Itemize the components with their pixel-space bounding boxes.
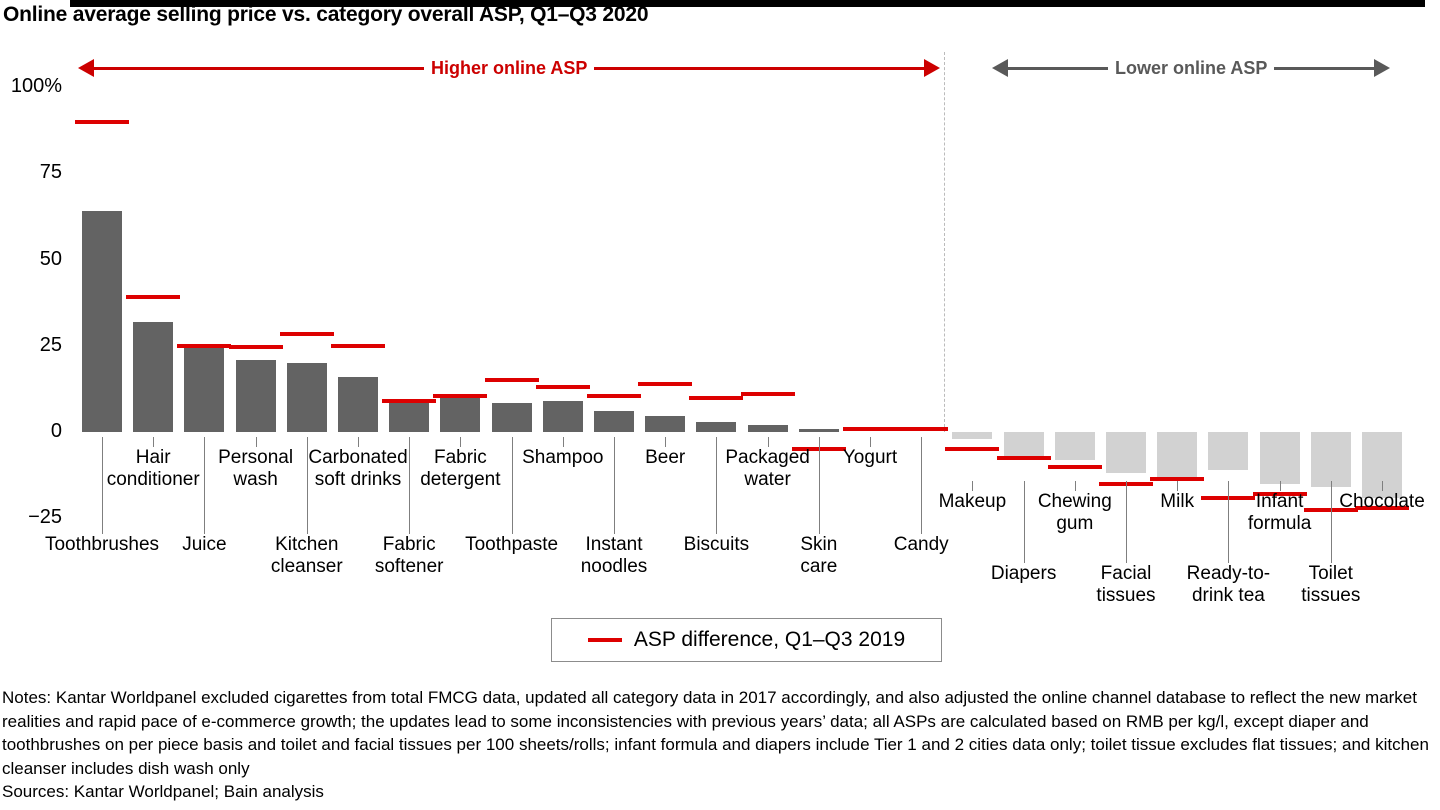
- bar: [1004, 432, 1044, 456]
- y-axis-tick-75: 75: [0, 162, 62, 182]
- bar: [440, 398, 480, 433]
- category-leader-line: [153, 437, 154, 447]
- prior-year-marker: [536, 385, 590, 389]
- category-label: Candy: [836, 534, 1006, 556]
- bar: [1311, 432, 1351, 487]
- prior-year-marker: [689, 396, 743, 400]
- prior-year-marker: [1150, 477, 1204, 481]
- category-label: Yogurt: [785, 447, 955, 469]
- category-leader-line: [358, 437, 359, 447]
- bar: [389, 401, 429, 432]
- prior-year-marker: [741, 392, 795, 396]
- bar: [1055, 432, 1095, 460]
- category-leader-line: [972, 481, 973, 491]
- y-axis-tick-25: 25: [0, 335, 62, 355]
- prior-year-marker: [75, 120, 129, 124]
- category-leader-line: [256, 437, 257, 447]
- bar: [184, 347, 224, 432]
- category-leader-line: [1382, 481, 1383, 491]
- zero-crossing-divider: [944, 52, 945, 432]
- bar: [696, 422, 736, 432]
- prior-year-marker: [433, 394, 487, 398]
- bar: [543, 401, 583, 432]
- category-leader-line: [665, 437, 666, 447]
- y-axis-tick-100: 100%: [0, 76, 62, 96]
- y-axis-tick-neg25: −25: [0, 507, 62, 527]
- prior-year-marker: [638, 382, 692, 386]
- prior-year-marker: [229, 345, 283, 349]
- category-label: Toilet tissues: [1246, 563, 1416, 607]
- legend-line-icon: [588, 638, 622, 642]
- category-leader-line: [1177, 481, 1178, 491]
- bar: [1260, 432, 1300, 484]
- chart-legend: ASP difference, Q1–Q3 2019: [551, 618, 942, 662]
- category-leader-line: [1280, 481, 1281, 491]
- category-leader-line: [460, 437, 461, 447]
- prior-year-marker: [126, 295, 180, 299]
- bar: [338, 377, 378, 432]
- y-axis-tick-0: 0: [0, 421, 62, 441]
- bar: [1157, 432, 1197, 477]
- bar-chart-plot: 100%7550250−25 ToothbrushesHair conditio…: [0, 0, 1440, 680]
- prior-year-marker: [382, 399, 436, 403]
- bar: [594, 411, 634, 432]
- prior-year-marker: [331, 344, 385, 348]
- prior-year-marker: [485, 378, 539, 382]
- bar: [748, 425, 788, 432]
- category-label: Chocolate: [1297, 491, 1440, 513]
- bar: [133, 322, 173, 432]
- bar: [492, 403, 532, 432]
- prior-year-marker: [177, 344, 231, 348]
- category-leader-line: [870, 437, 871, 447]
- bar: [1106, 432, 1146, 473]
- prior-year-marker: [587, 394, 641, 398]
- prior-year-marker: [997, 456, 1051, 460]
- notes-text: Notes: Kantar Worldpanel excluded cigare…: [2, 686, 1438, 780]
- category-leader-line: [768, 437, 769, 447]
- bar: [952, 432, 992, 439]
- zero-axis-line: [70, 0, 1425, 7]
- bar: [799, 429, 839, 432]
- legend-label: ASP difference, Q1–Q3 2019: [634, 628, 905, 652]
- category-leader-line: [1075, 481, 1076, 491]
- prior-year-marker: [1048, 465, 1102, 469]
- prior-year-marker: [894, 427, 948, 431]
- prior-year-marker: [280, 332, 334, 336]
- category-leader-line: [921, 437, 922, 534]
- bar: [287, 363, 327, 432]
- bar: [645, 416, 685, 432]
- bar: [82, 211, 122, 432]
- prior-year-marker: [843, 427, 897, 431]
- y-axis-tick-50: 50: [0, 249, 62, 269]
- bar: [1208, 432, 1248, 470]
- bar: [236, 360, 276, 432]
- category-leader-line: [563, 437, 564, 447]
- sources-text: Sources: Kantar Worldpanel; Bain analysi…: [2, 780, 324, 804]
